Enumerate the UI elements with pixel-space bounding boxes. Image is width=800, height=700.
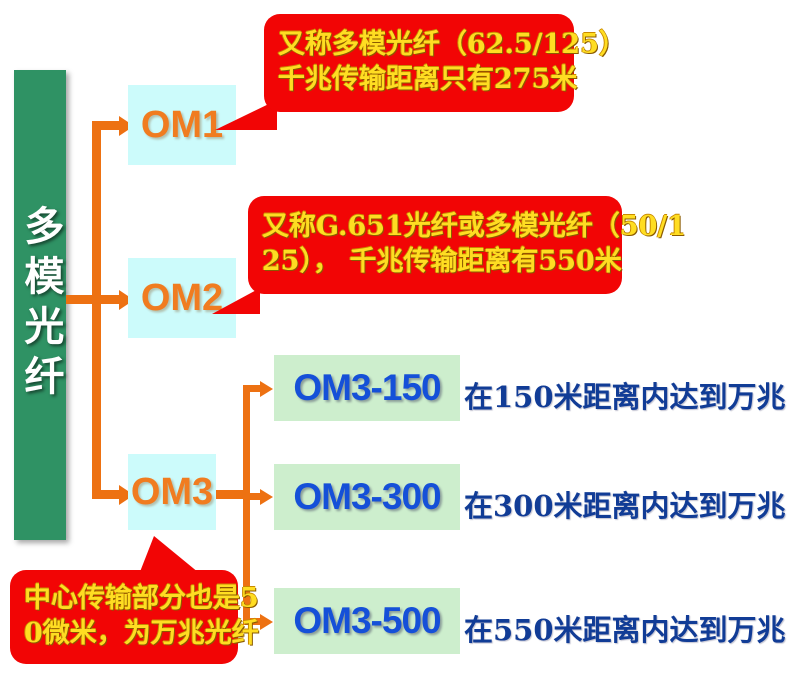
callout-om2-line-1: 又称G.651光纤或多模光纤（50/1 — [262, 210, 608, 245]
callout-om1-line-1: 又称多模光纤（62.5/125） — [278, 28, 560, 63]
node-om2-label: OM2 — [141, 277, 223, 320]
arrow-head-om3-300 — [260, 489, 273, 505]
node-om3-150-label: OM3-150 — [293, 367, 440, 409]
desc-om3-500: 在550米距离内达到万兆 — [464, 607, 786, 649]
callout-om2: 又称G.651光纤或多模光纤（50/1 25）， 千兆传输距离有550米 — [248, 196, 622, 294]
node-om3-150[interactable]: OM3-150 — [274, 355, 460, 421]
arrow-head-om3-150 — [260, 381, 273, 397]
root-node-label: 多模光纤 — [16, 205, 65, 405]
node-om3-300[interactable]: OM3-300 — [274, 464, 460, 530]
desc-om3-150: 在150米距离内达到万兆 — [464, 374, 786, 416]
diagram-canvas: 多模光纤 OM1 OM2 OM3 OM3-150 在150米距离内达到万兆 OM… — [0, 0, 800, 700]
desc-om3-300: 在300米距离内达到万兆 — [464, 483, 786, 525]
node-om3-500-label: OM3-500 — [293, 600, 440, 642]
callout-om1: 又称多模光纤（62.5/125） 千兆传输距离只有275米 — [264, 14, 574, 112]
node-om3[interactable]: OM3 — [128, 454, 216, 530]
root-node-multimode-fiber: 多模光纤 — [14, 70, 66, 540]
callout-om3: 中心传输部分也是5 0微米，为万兆光纤 — [10, 570, 238, 664]
callout-om1-line-2: 千兆传输距离只有275米 — [278, 63, 560, 98]
node-om1-label: OM1 — [141, 104, 223, 147]
callout-om2-line-2: 25）， 千兆传输距离有550米 — [262, 245, 608, 280]
node-om3-500[interactable]: OM3-500 — [274, 588, 460, 654]
node-om3-label: OM3 — [131, 471, 213, 514]
node-om3-300-label: OM3-300 — [293, 476, 440, 518]
callout-om3-line-1: 中心传输部分也是5 — [24, 582, 224, 617]
connector-spine-vertical — [92, 121, 101, 499]
arrow-head-om3-500 — [260, 614, 273, 630]
callout-om3-line-2: 0微米，为万兆光纤 — [24, 617, 224, 652]
